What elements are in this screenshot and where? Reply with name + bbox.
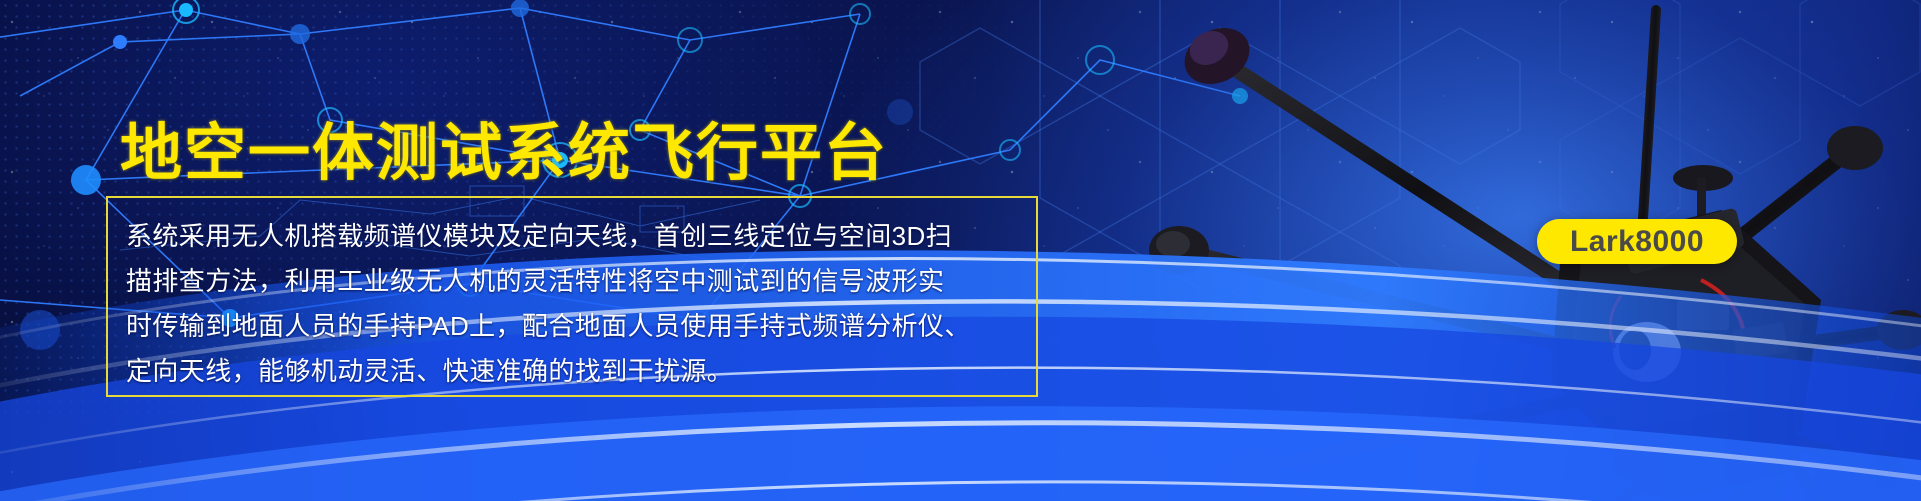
hexacopter-drone-photo xyxy=(921,0,1921,501)
product-banner: 地空一体测试系统飞行平台 系统采用无人机搭载频谱仪模块及定向天线，首创三线定位与… xyxy=(0,0,1921,501)
description-box: 系统采用无人机搭载频谱仪模块及定向天线，首创三线定位与空间3D扫 描排查方法，利… xyxy=(106,196,1038,397)
description-line-1: 系统采用无人机搭载频谱仪模块及定向天线，首创三线定位与空间3D扫 xyxy=(126,214,1018,259)
description-line-4: 定向天线，能够机动灵活、快速准确的找到干扰源。 xyxy=(126,349,1018,394)
description-line-3: 时传输到地面人员的手持PAD上，配合地面人员使用手持式频谱分析仪、 xyxy=(126,304,1018,349)
description-line-2: 描排查方法，利用工业级无人机的灵活特性将空中测试到的信号波形实 xyxy=(126,259,1018,304)
page-title: 地空一体测试系统飞行平台 xyxy=(120,120,888,188)
product-badge-label: Lark8000 xyxy=(1570,225,1704,259)
product-badge: Lark8000 xyxy=(1537,219,1737,264)
